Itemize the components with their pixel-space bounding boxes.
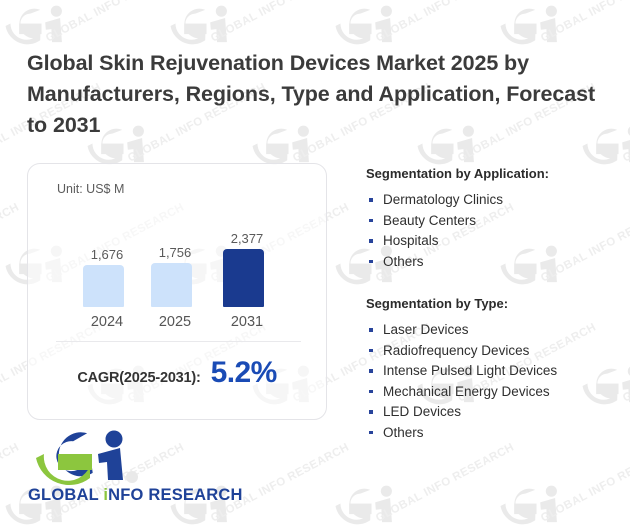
- list-item: Others: [366, 423, 616, 444]
- logo-wordmark: GLOBAL iNFO RESEARCH: [28, 486, 243, 505]
- list-item-label: Radiofrequency Devices: [383, 343, 529, 358]
- list-item-label: Mechanical Energy Devices: [383, 384, 550, 399]
- bullet-icon: [369, 431, 373, 435]
- bar-rect: [223, 249, 264, 307]
- cagr-row: CAGR(2025-2031): 5.2%: [28, 356, 326, 390]
- gi-logo-icon: [28, 428, 148, 486]
- segmentation-application-block: Segmentation by Application: Dermatology…: [366, 166, 616, 272]
- list-item: Beauty Centers: [366, 211, 616, 232]
- segmentation-type-block: Segmentation by Type: Laser Devices Radi…: [366, 296, 616, 443]
- bullet-icon: [369, 390, 373, 394]
- bar-group-2031: 2,377 2031: [210, 220, 284, 330]
- bar-group-2024: 1,676 2024: [70, 220, 144, 330]
- list-item-label: LED Devices: [383, 404, 461, 419]
- bullet-icon: [369, 328, 373, 332]
- list-item: Others: [366, 252, 616, 273]
- bullet-icon: [369, 219, 373, 223]
- list-item-label: Intense Pulsed Light Devices: [383, 363, 557, 378]
- segmentation-heading: Segmentation by Application:: [366, 166, 616, 181]
- segmentation-heading: Segmentation by Type:: [366, 296, 616, 311]
- bar-value-label: 2,377: [210, 231, 284, 246]
- logo-text-global: GLOBAL: [28, 486, 103, 504]
- list-item-label: Others: [383, 254, 424, 269]
- list-item-label: Laser Devices: [383, 322, 469, 337]
- bullet-icon: [369, 239, 373, 243]
- list-item-label: Others: [383, 425, 424, 440]
- cagr-value: 5.2%: [211, 356, 277, 390]
- bar-category-label: 2024: [70, 314, 144, 330]
- segmentation-type-list: Laser Devices Radiofrequency Devices Int…: [366, 320, 616, 443]
- list-item: Intense Pulsed Light Devices: [366, 361, 616, 382]
- list-item: Dermatology Clinics: [366, 190, 616, 211]
- list-item: Radiofrequency Devices: [366, 341, 616, 362]
- list-item: Hospitals: [366, 231, 616, 252]
- bar-category-label: 2031: [210, 314, 284, 330]
- list-item-label: Beauty Centers: [383, 213, 476, 228]
- list-item: LED Devices: [366, 402, 616, 423]
- chart-unit-label: Unit: US$ M: [57, 182, 124, 196]
- segmentation-panel: Segmentation by Application: Dermatology…: [366, 166, 616, 467]
- bar-chart: 1,676 2024 1,756 2025 2,377 2031: [28, 220, 326, 330]
- bar-value-label: 1,676: [70, 247, 144, 262]
- page-title: Global Skin Rejuvenation Devices Market …: [27, 48, 607, 141]
- list-item-label: Hospitals: [383, 233, 439, 248]
- segmentation-application-list: Dermatology Clinics Beauty Centers Hospi…: [366, 190, 616, 272]
- bullet-icon: [369, 369, 373, 373]
- bar-rect: [83, 265, 124, 307]
- bullet-icon: [369, 260, 373, 264]
- list-item-label: Dermatology Clinics: [383, 192, 503, 207]
- bullet-icon: [369, 198, 373, 202]
- bar-group-2025: 1,756 2025: [138, 220, 212, 330]
- list-item: Mechanical Energy Devices: [366, 382, 616, 403]
- bullet-icon: [369, 349, 373, 353]
- list-item: Laser Devices: [366, 320, 616, 341]
- bar-rect: [151, 263, 192, 307]
- logo-text-info-research: NFO RESEARCH: [108, 486, 242, 504]
- bullet-icon: [369, 410, 373, 414]
- card-divider: [56, 341, 301, 342]
- bar-category-label: 2025: [138, 314, 212, 330]
- market-size-chart-card: Unit: US$ M 1,676 2024 1,756 2025 2,377 …: [27, 163, 327, 420]
- bar-value-label: 1,756: [138, 245, 212, 260]
- cagr-label: CAGR(2025-2031):: [77, 370, 200, 386]
- company-logo: GLOBAL iNFO RESEARCH: [28, 428, 228, 512]
